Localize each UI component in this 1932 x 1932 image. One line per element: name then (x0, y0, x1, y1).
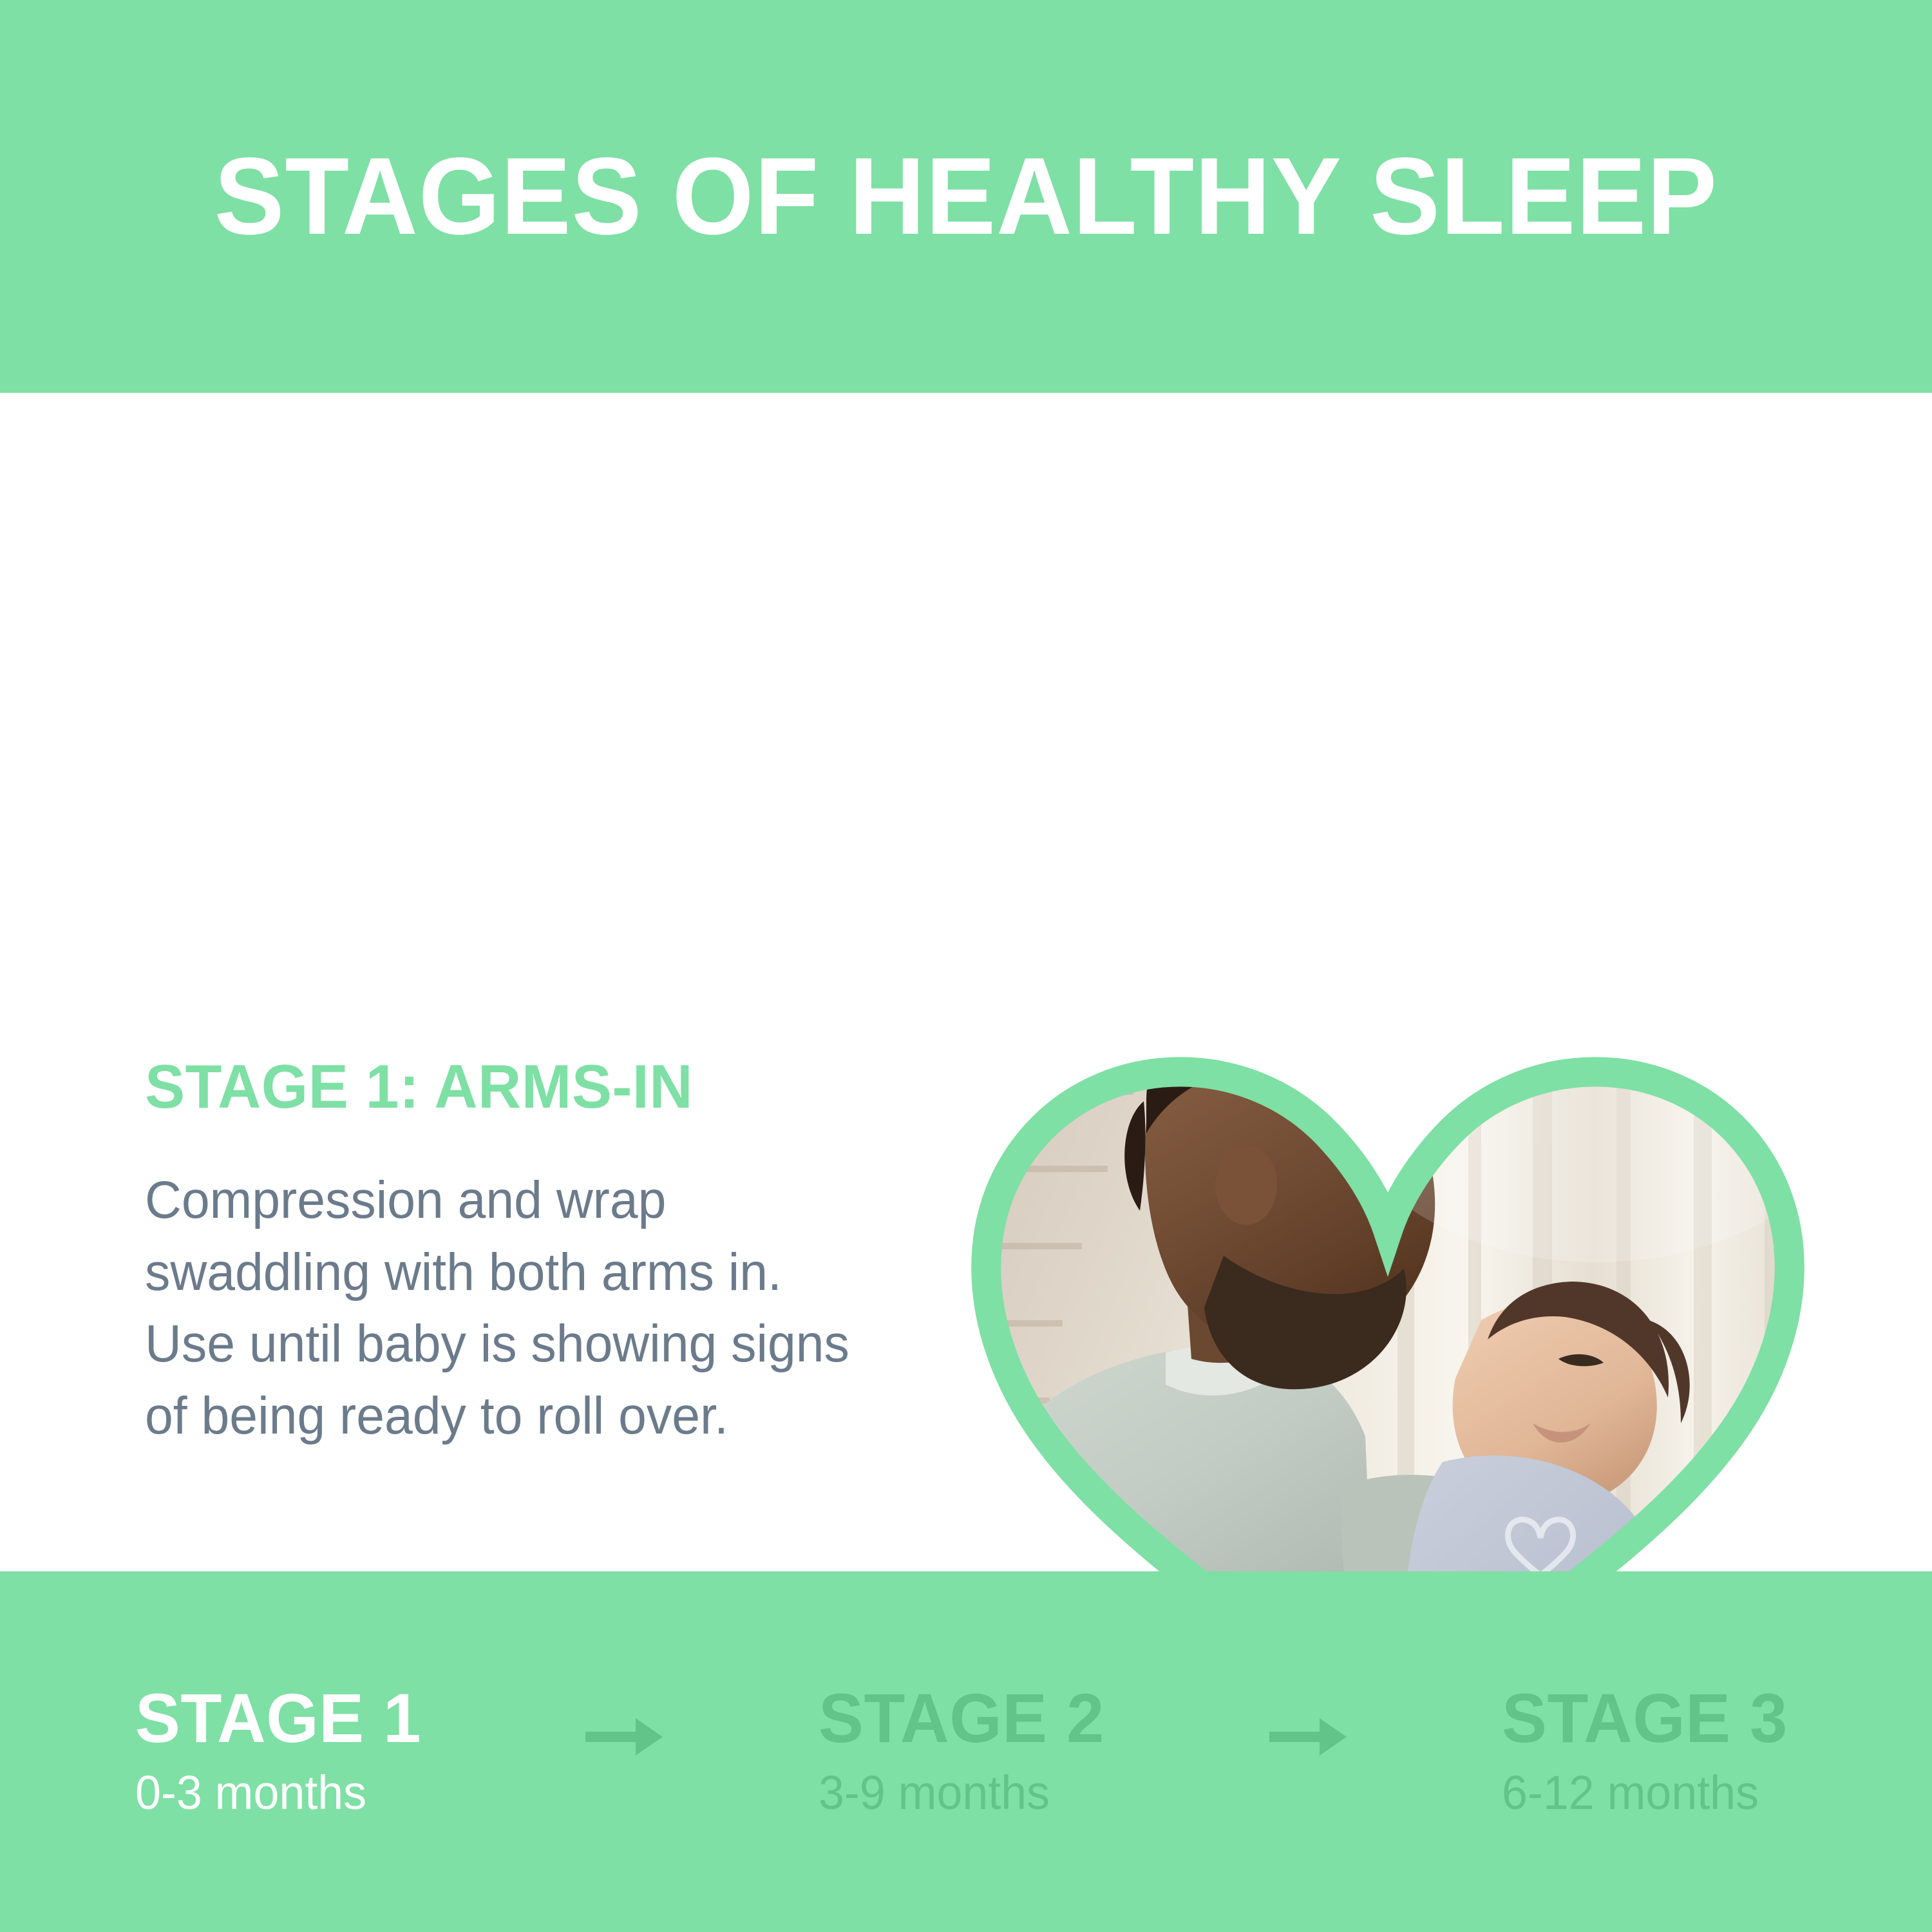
stage-description: Compression and wrap swaddling with both… (145, 1164, 875, 1452)
stage-progress-track: STAGE 1 0-3 months STAGE 2 3-9 months ST… (135, 1681, 1797, 1821)
poster: STAGES OF HEALTHY SLEEP STAGE 1: ARMS-IN… (0, 0, 1932, 1932)
header-band: STAGES OF HEALTHY SLEEP (0, 0, 1932, 393)
stage-step-1-subtitle: 0-3 months (135, 1765, 421, 1822)
arrow-right-icon (585, 1714, 663, 1759)
footer-band: STAGE 1 0-3 months STAGE 2 3-9 months ST… (0, 1571, 1932, 1932)
stage-step-2[interactable]: STAGE 2 3-9 months (819, 1681, 1113, 1821)
stage-step-3-title: STAGE 3 (1502, 1681, 1788, 1755)
arrow-right-icon-2 (1269, 1714, 1347, 1759)
stage-step-3-subtitle: 6-12 months (1502, 1765, 1788, 1822)
stage-step-2-title: STAGE 2 (819, 1681, 1104, 1755)
stage-text-column: STAGE 1: ARMS-IN Compression and wrap sw… (145, 1056, 905, 1452)
stage-step-3[interactable]: STAGE 3 6-12 months (1502, 1681, 1797, 1821)
main-content: STAGE 1: ARMS-IN Compression and wrap sw… (0, 393, 1932, 1571)
stage-step-1[interactable]: STAGE 1 0-3 months (135, 1681, 430, 1821)
page-title: STAGES OF HEALTHY SLEEP (214, 142, 1718, 251)
stage-step-2-subtitle: 3-9 months (819, 1765, 1104, 1822)
stage-step-1-title: STAGE 1 (135, 1681, 421, 1755)
stage-heading: STAGE 1: ARMS-IN (145, 1056, 882, 1118)
